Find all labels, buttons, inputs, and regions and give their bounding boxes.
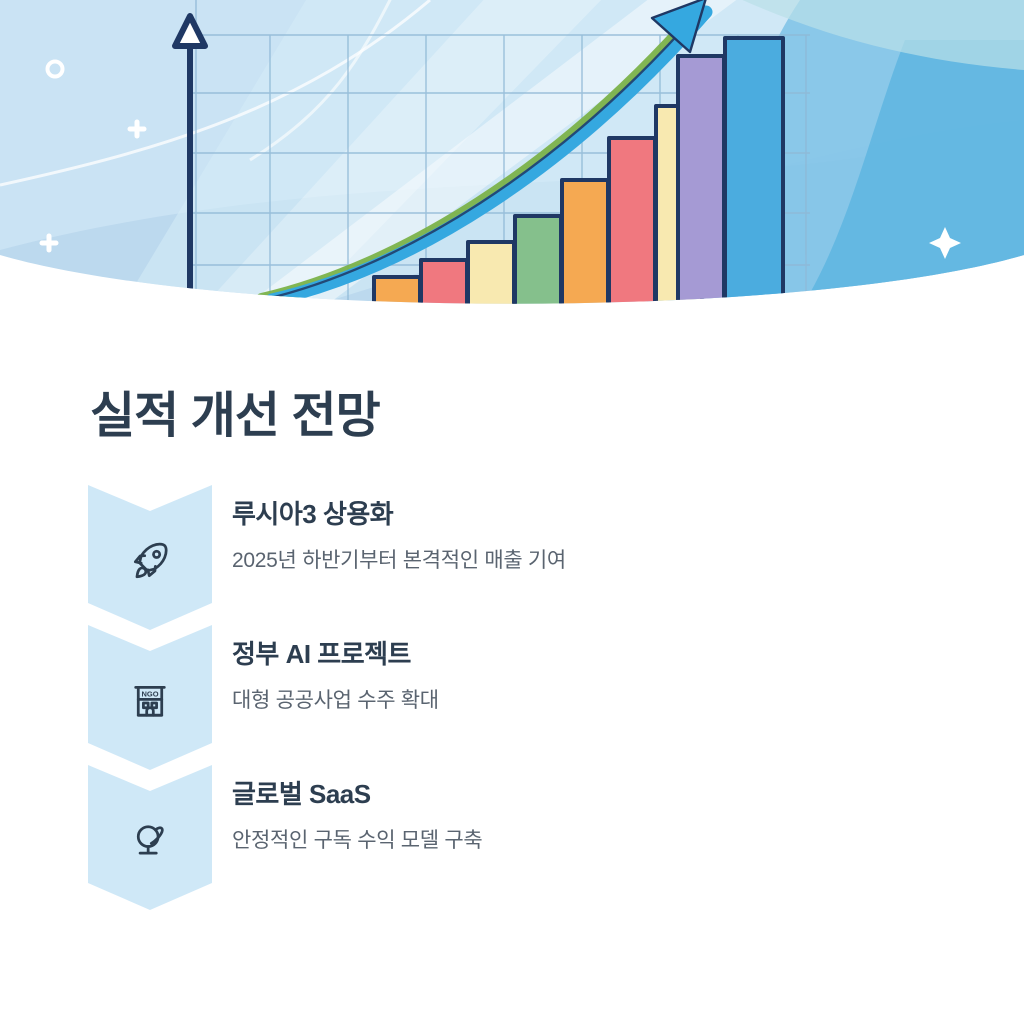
- list-item-desc: 안정적인 구독 수익 모델 구축: [232, 827, 792, 854]
- content-panel: 실적 개선 전망 루시아3 상용화: [0, 310, 1024, 1024]
- bar-9: [725, 38, 783, 310]
- ngo-building-icon: NGO: [88, 625, 212, 770]
- bar-3: [468, 242, 514, 310]
- badge-pennant: [88, 765, 212, 910]
- bar-4: [515, 216, 561, 310]
- bar-5: [562, 180, 608, 310]
- list-item[interactable]: 글로벌 SaaS 안정적인 구독 수익 모델 구축: [88, 765, 788, 905]
- bar-8: [678, 56, 724, 310]
- badge-pennant: NGO: [88, 625, 212, 770]
- list-item[interactable]: NGO 정부 AI 프로젝트 대형 공공사업 수주 확대: [88, 625, 788, 765]
- list-item[interactable]: 루시아3 상용화 2025년 하반기부터 본격적인 매출 기여: [88, 485, 788, 625]
- bar-1: [374, 277, 420, 310]
- list-item-text: 루시아3 상용화 2025년 하반기부터 본격적인 매출 기여: [232, 499, 792, 574]
- list-item-desc: 대형 공공사업 수주 확대: [232, 687, 792, 714]
- list-item-title: 글로벌 SaaS: [232, 779, 792, 810]
- list-item-text: 정부 AI 프로젝트 대형 공공사업 수주 확대: [232, 639, 792, 714]
- list-item-desc: 2025년 하반기부터 본격적인 매출 기여: [232, 547, 792, 574]
- hero-illustration: [0, 0, 1024, 310]
- svg-text:NGO: NGO: [141, 689, 158, 698]
- list-item-text: 글로벌 SaaS 안정적인 구독 수익 모델 구축: [232, 779, 792, 854]
- page-title: 실적 개선 전망: [90, 392, 380, 441]
- list-item-title: 정부 AI 프로젝트: [232, 639, 792, 670]
- bar-2: [421, 260, 467, 310]
- list-item-title: 루시아3 상용화: [232, 499, 792, 530]
- rocket-icon: [88, 485, 212, 630]
- globe-stand-icon: [88, 765, 212, 910]
- badge-pennant: [88, 485, 212, 630]
- bar-6: [609, 138, 655, 310]
